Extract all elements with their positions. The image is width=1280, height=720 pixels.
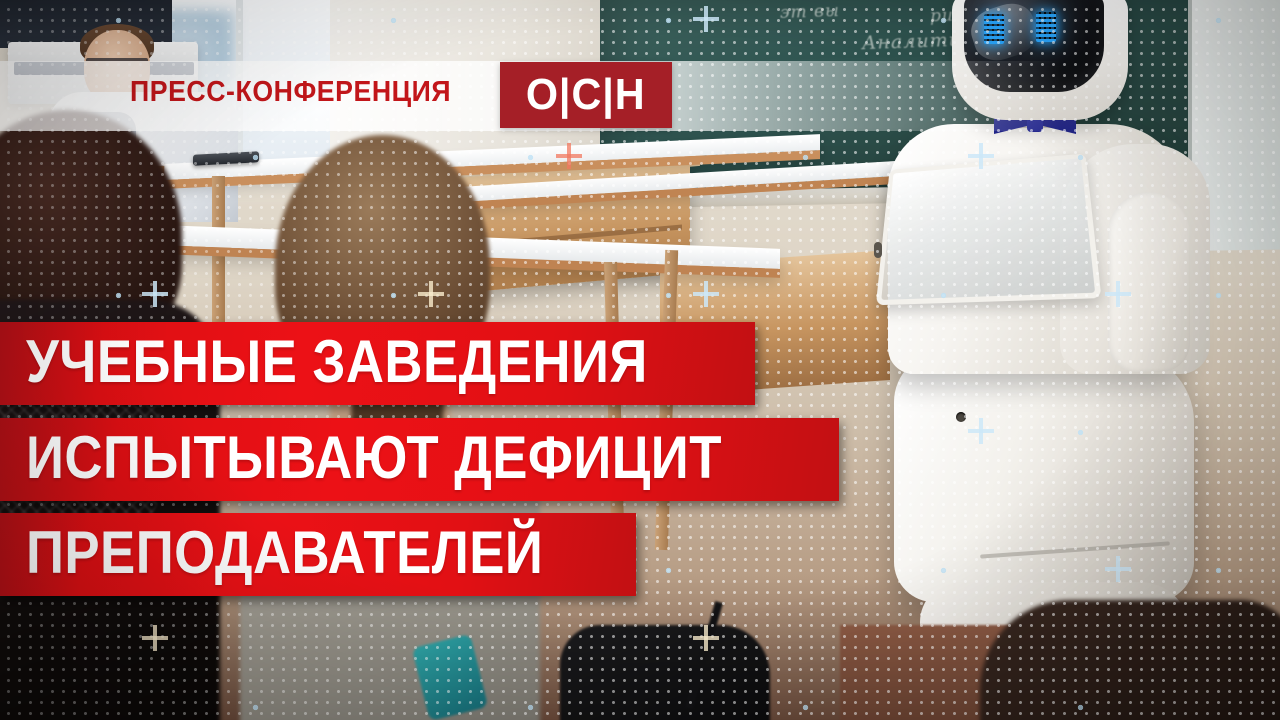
foreground-person-right xyxy=(980,600,1280,720)
table-leg xyxy=(212,176,225,326)
channel-logo: О|С|Н xyxy=(500,62,672,128)
headline-bar-3: ПРЕПОДАВАТЕЛЕЙ xyxy=(0,513,636,596)
robot-eye-left xyxy=(984,14,1004,44)
headline-bar-1: УЧЕБНЫЕ ЗАВЕДЕНИЯ xyxy=(0,322,755,405)
robot-arm xyxy=(1108,192,1190,372)
channel-logo-text: О|С|Н xyxy=(526,73,646,117)
chalk-note-1: эт вы xyxy=(780,1,840,23)
headline-text-1: УЧЕБНЫЕ ЗАВЕДЕНИЯ xyxy=(26,328,648,395)
backpack xyxy=(560,625,770,720)
headline-text-3: ПРЕПОДАВАТЕЛЕЙ xyxy=(26,519,543,586)
robot-sensor-port xyxy=(956,412,966,422)
robot-base xyxy=(894,352,1194,602)
program-label: ПРЕСС-КОНФЕРЕНЦИЯ xyxy=(130,76,451,109)
robot-side-port xyxy=(874,242,882,258)
robot-eye-right xyxy=(1036,12,1056,42)
headline-text-2: ИСПЫТЫВАЮТ ДЕФИЦИТ xyxy=(26,424,722,491)
broadcast-news-frame: эт вы ри Аналитика xyxy=(0,0,1280,720)
headline-bar-2: ИСПЫТЫВАЮТ ДЕФИЦИТ xyxy=(0,418,839,501)
